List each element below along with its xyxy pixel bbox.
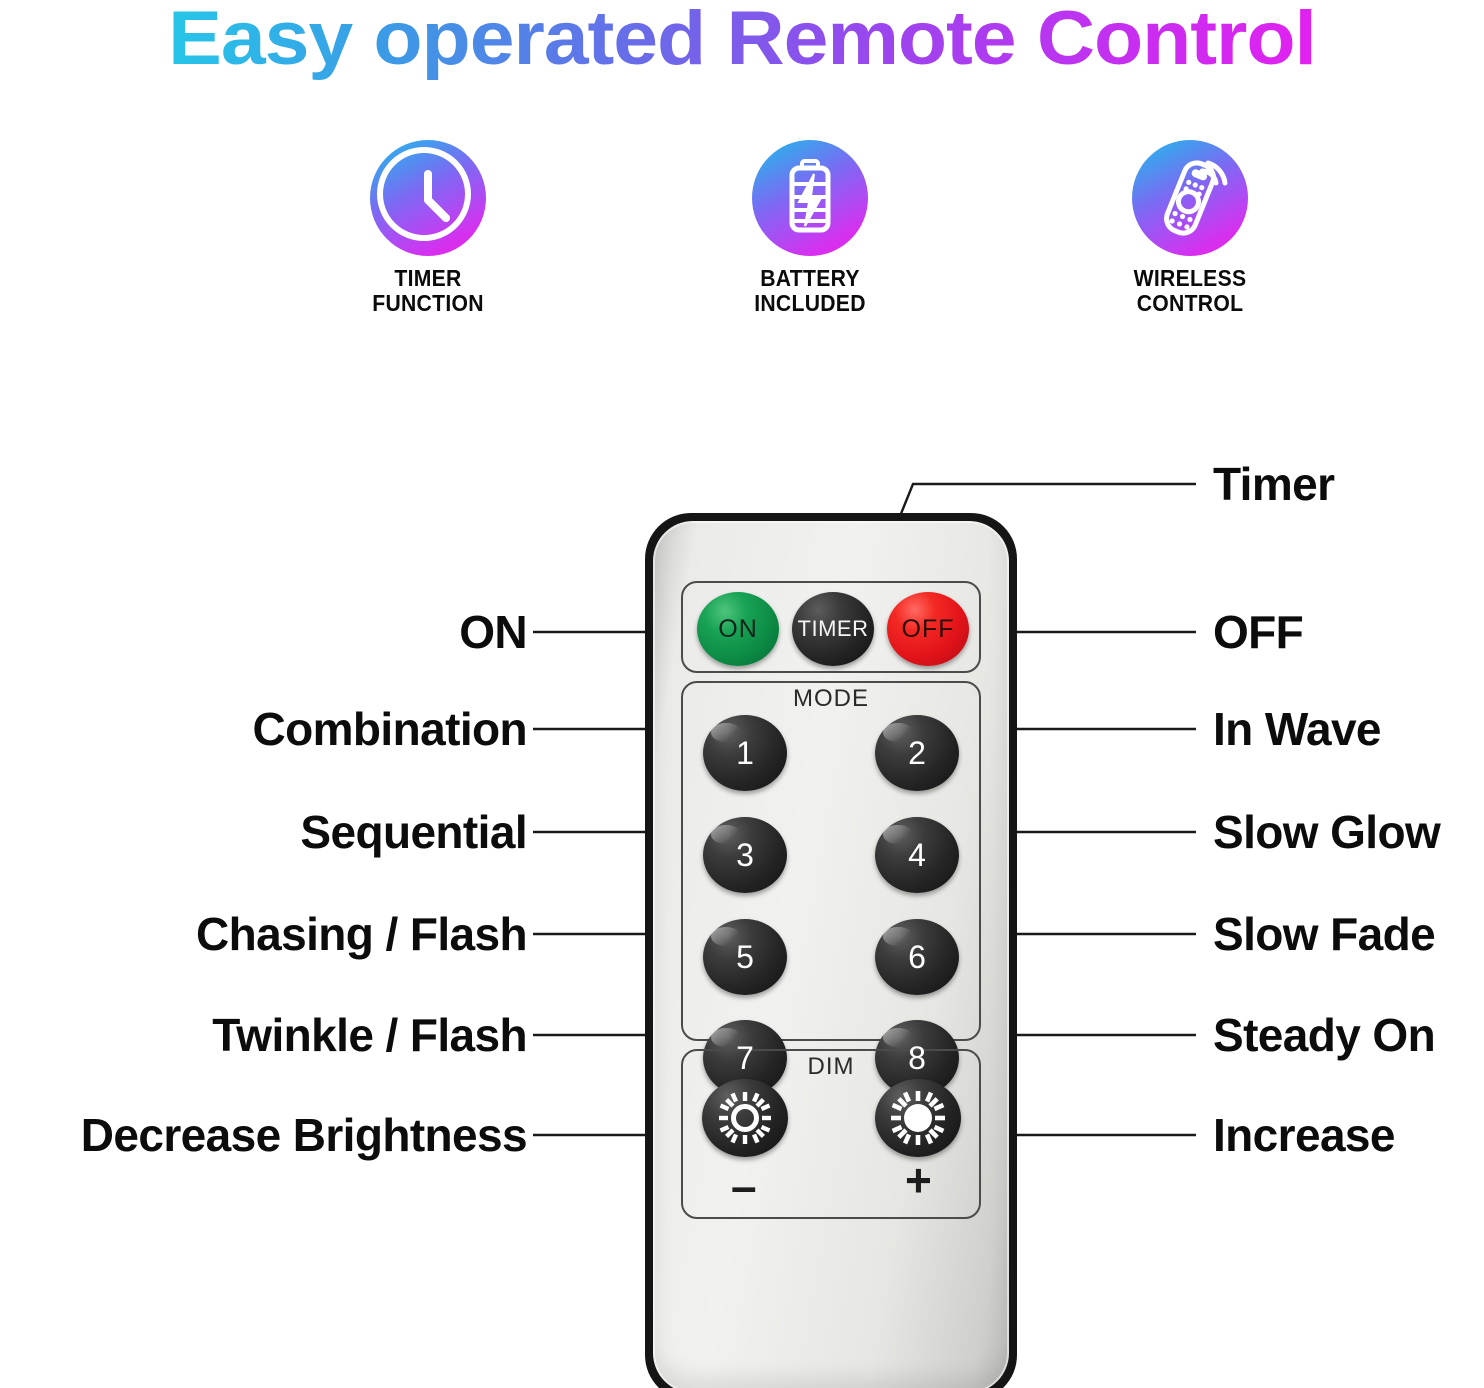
mode-button-3[interactable]: 3	[703, 817, 787, 893]
mode-panel: MODE 1 2 3 4	[681, 681, 981, 1041]
callout-label-slow-glow: Slow Glow	[1213, 806, 1440, 858]
infographic-canvas: Easy operated Remote Control TIMER FUNCT…	[0, 0, 1484, 1388]
mode-button-5-label: 5	[736, 939, 754, 976]
feature-timer-caption: TIMER FUNCTION	[327, 266, 529, 316]
mode-button-2[interactable]: 2	[875, 715, 959, 791]
mode-button-4[interactable]: 4	[875, 817, 959, 893]
dim-minus-sign: –	[731, 1163, 757, 1209]
callout-label-in-wave: In Wave	[1213, 703, 1381, 755]
clock-icon	[370, 140, 486, 256]
remote-icon-circle	[1132, 140, 1248, 256]
mode-button-7-label: 7	[736, 1040, 754, 1077]
callout-label-combination: Combination	[0, 703, 527, 755]
mode-panel-title: MODE	[683, 685, 979, 713]
clock-icon-circle	[370, 140, 486, 256]
feature-timer-function: TIMER FUNCTION	[318, 140, 538, 316]
mode-button-6[interactable]: 6	[875, 919, 959, 995]
sun-outline-icon	[717, 1090, 773, 1146]
dim-panel-title: DIM	[683, 1053, 979, 1081]
callout-label-off: OFF	[1213, 606, 1303, 658]
off-button-label: OFF	[902, 615, 955, 644]
callout-label-chasing-flash: Chasing / Flash	[0, 908, 527, 960]
feature-battery-caption: BATTERY INCLUDED	[709, 266, 911, 316]
feature-wireless-caption: WIRELESS CONTROL	[1089, 266, 1291, 316]
on-button[interactable]: ON	[697, 592, 779, 666]
mode-button-3-label: 3	[736, 837, 754, 874]
battery-bolt-icon	[752, 140, 868, 256]
mode-button-1-label: 1	[736, 735, 754, 772]
callout-label-increase: Increase	[1213, 1109, 1395, 1161]
mode-button-2-label: 2	[908, 735, 926, 772]
feature-timer-line1: TIMER	[327, 266, 529, 291]
mode-button-4-label: 4	[908, 837, 926, 874]
timer-button[interactable]: TIMER	[792, 592, 874, 666]
dim-increase-button[interactable]	[875, 1079, 961, 1157]
mode-button-1[interactable]: 1	[703, 715, 787, 791]
remote-faceplate: ON TIMER OFF MODE 1 2	[653, 521, 1009, 1388]
battery-icon-circle	[752, 140, 868, 256]
feature-wireless-line2: CONTROL	[1089, 291, 1291, 316]
callout-label-on: ON	[0, 606, 527, 658]
feature-wireless-control: WIRELESS CONTROL	[1080, 140, 1300, 316]
sun-filled-icon	[890, 1090, 946, 1146]
callout-label-twinkle-flash: Twinkle / Flash	[0, 1009, 527, 1061]
page-title: Easy operated Remote Control	[0, 0, 1484, 84]
remote-signal-icon	[1132, 140, 1248, 256]
off-button[interactable]: OFF	[887, 592, 969, 666]
callout-label-timer: Timer	[1213, 458, 1334, 510]
remote-control-device: ON TIMER OFF MODE 1 2	[645, 513, 1017, 1388]
callout-label-decrease-brightness: Decrease Brightness	[0, 1109, 527, 1161]
mode-button-6-label: 6	[908, 939, 926, 976]
timer-button-label: TIMER	[798, 616, 869, 642]
mode-button-8-label: 8	[908, 1040, 926, 1077]
power-panel: ON TIMER OFF	[681, 581, 981, 673]
dim-plus-sign: +	[905, 1157, 932, 1203]
mode-button-5[interactable]: 5	[703, 919, 787, 995]
callout-label-sequential: Sequential	[0, 806, 527, 858]
callout-label-steady-on: Steady On	[1213, 1009, 1435, 1061]
dim-decrease-button[interactable]	[702, 1079, 788, 1157]
feature-timer-line2: FUNCTION	[327, 291, 529, 316]
callout-label-slow-fade: Slow Fade	[1213, 908, 1435, 960]
feature-battery-included: BATTERY INCLUDED	[700, 140, 920, 316]
feature-battery-line2: INCLUDED	[709, 291, 911, 316]
feature-wireless-line1: WIRELESS	[1089, 266, 1291, 291]
feature-battery-line1: BATTERY	[709, 266, 911, 291]
dim-panel: DIM	[681, 1049, 981, 1219]
on-button-label: ON	[718, 615, 758, 644]
